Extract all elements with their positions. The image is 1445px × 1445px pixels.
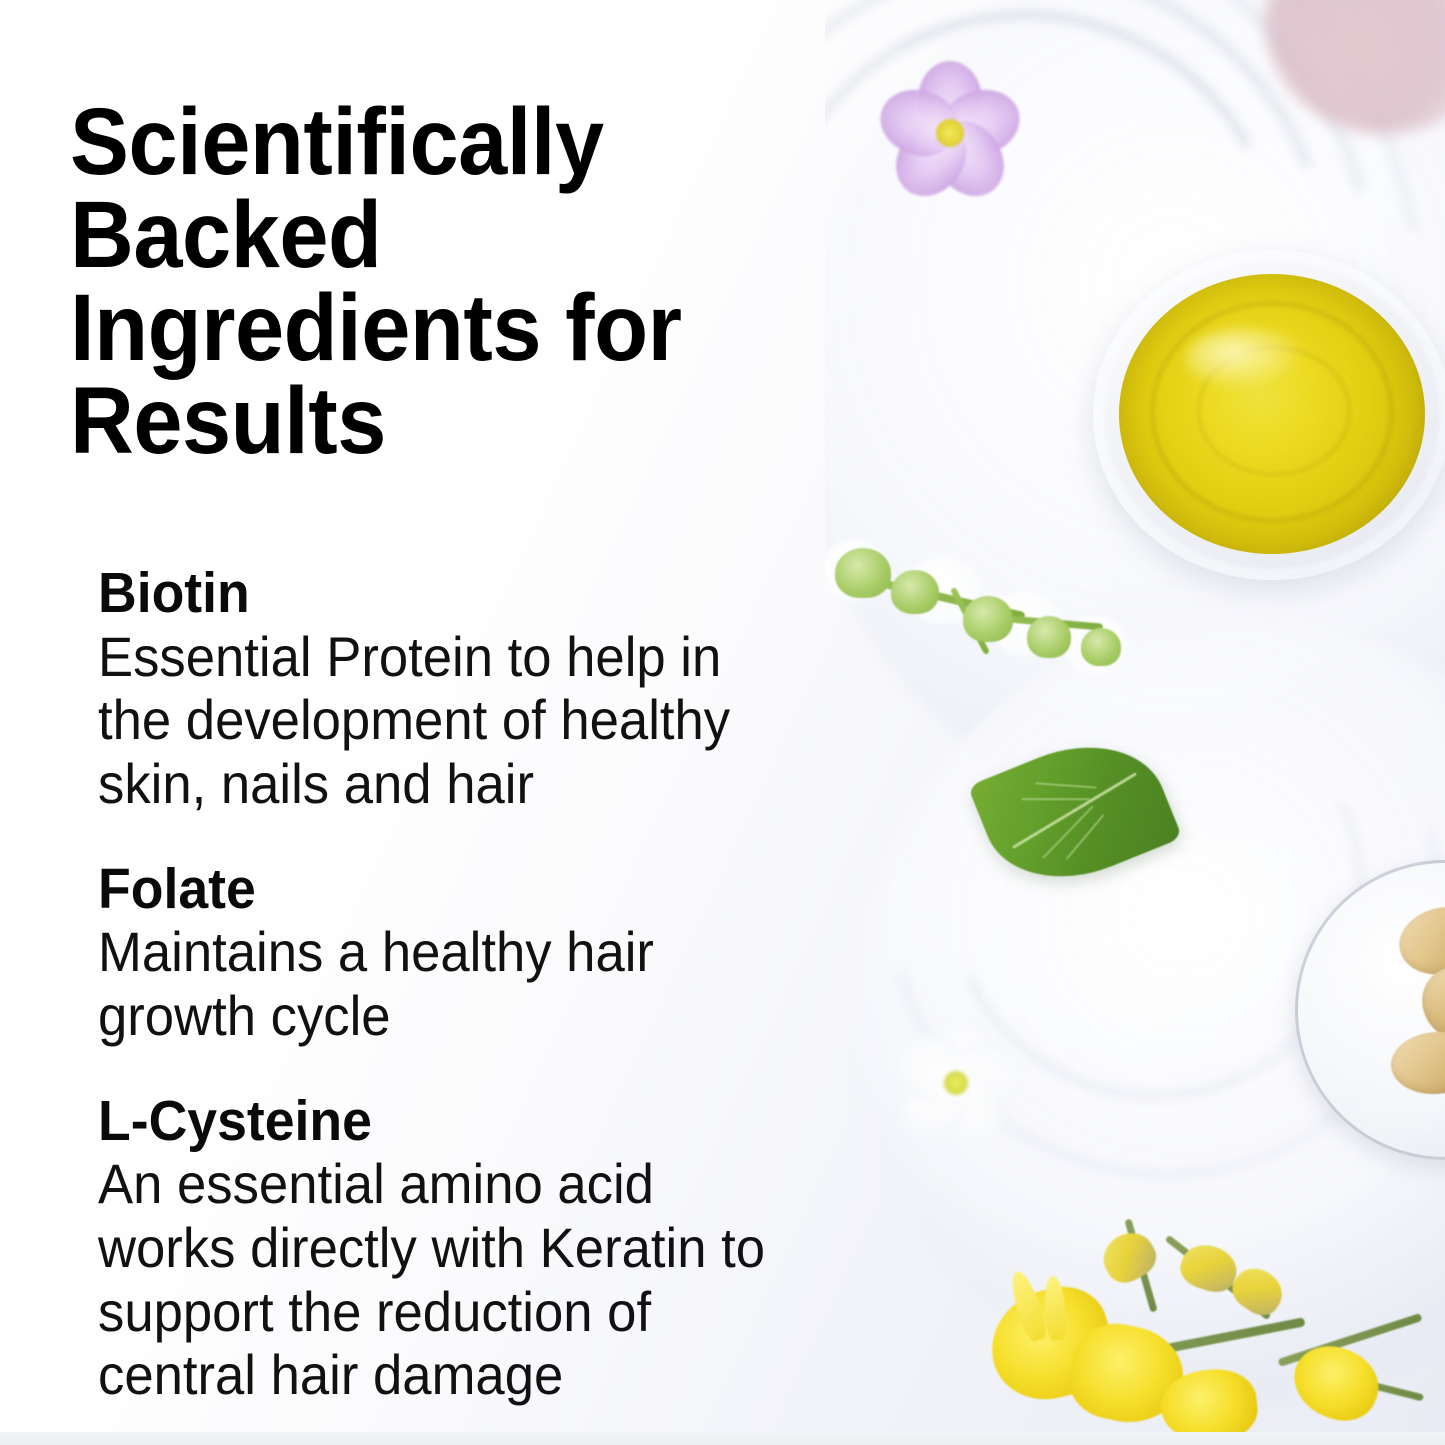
ingredient-list: Biotin Essential Protein to help in the … <box>70 564 980 1407</box>
leaf-vein <box>1022 798 1090 800</box>
yellow-flowers-image <box>975 1230 1445 1445</box>
ingredient-infographic: Scientifically Backed Ingredients for Re… <box>0 0 1445 1445</box>
ingredient-description: An essential amino acid works directly w… <box>98 1152 927 1407</box>
bottom-edge-band <box>0 1432 1445 1445</box>
oil-bowl-image <box>1093 250 1445 580</box>
green-bud <box>1027 616 1071 658</box>
ingredient-item-biotin: Biotin Essential Protein to help in the … <box>98 564 980 816</box>
page-title: Scientifically Backed Ingredients for Re… <box>70 96 916 468</box>
ingredient-item-folate: Folate Maintains a healthy hair growth c… <box>98 860 980 1048</box>
ingredient-name: L-Cysteine <box>98 1092 927 1150</box>
ingredient-item-l-cysteine: L-Cysteine An essential amino acid works… <box>98 1092 980 1407</box>
text-content: Scientifically Backed Ingredients for Re… <box>0 0 980 1445</box>
ingredient-description: Maintains a healthy hair growth cycle <box>98 920 927 1048</box>
oil-highlight <box>1185 328 1305 390</box>
nut-bowl-image <box>1295 860 1445 1160</box>
flower-bud <box>1095 1224 1163 1290</box>
green-bud <box>1081 628 1121 666</box>
yellow-petal <box>1043 1275 1067 1340</box>
ingredient-name: Biotin <box>98 564 927 622</box>
yellow-blossom <box>1283 1334 1389 1431</box>
ingredient-name: Folate <box>98 860 927 918</box>
ingredient-description: Essential Protein to help in the develop… <box>98 625 927 816</box>
